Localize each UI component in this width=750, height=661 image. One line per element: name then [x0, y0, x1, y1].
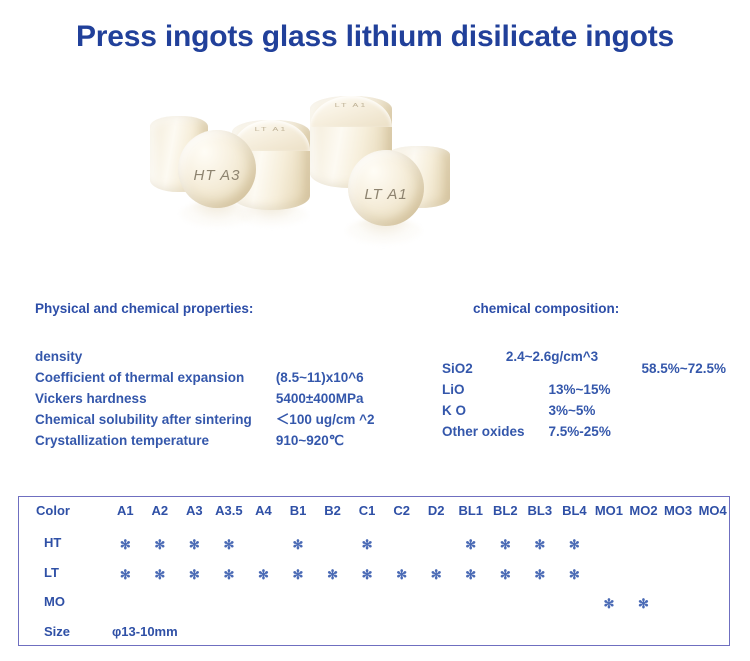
chemical-composition-table: SiO2 58.5%~72.5% LiO 13%~15% K O 3%~5% O… — [442, 361, 726, 445]
shade-empty-cell — [350, 587, 385, 617]
column-header-mo3: MO3 — [661, 496, 696, 528]
asterisk-icon: ✻ — [603, 597, 614, 610]
shade-table-corner-label: Color — [18, 496, 108, 528]
shade-empty-cell — [523, 587, 558, 617]
shade-empty-cell — [695, 557, 730, 587]
table-row: Other oxides 7.5%-25% — [442, 424, 726, 445]
column-header-mo2: MO2 — [626, 496, 661, 528]
shade-mark-mo-mo2: ✻ — [626, 587, 661, 617]
shade-empty-cell — [315, 587, 350, 617]
asterisk-icon: ✻ — [120, 568, 131, 581]
shade-mark-lt-d2: ✻ — [419, 557, 454, 587]
asterisk-icon: ✻ — [189, 538, 200, 551]
compound-value: 13%~15% — [549, 382, 726, 403]
row-label-ht: HT — [18, 528, 108, 558]
shade-mark-lt-a1: ✻ — [108, 557, 143, 587]
shade-empty-cell — [315, 528, 350, 558]
column-header-a1: A1 — [108, 496, 143, 528]
compound-name: K O — [442, 403, 549, 424]
column-header-bl1: BL1 — [453, 496, 488, 528]
asterisk-icon: ✻ — [362, 538, 373, 551]
shade-empty-cell — [661, 528, 696, 558]
asterisk-icon: ✻ — [569, 568, 580, 581]
shade-mark-ht-bl1: ✻ — [453, 528, 488, 558]
asterisk-icon: ✻ — [431, 568, 442, 581]
table-row: SiO2 58.5%~72.5% — [442, 361, 726, 382]
property-name: Vickers hardness — [35, 391, 276, 412]
ingot-engraving-label: LT A1 — [310, 102, 392, 108]
shade-mark-lt-a4: ✻ — [246, 557, 281, 587]
asterisk-icon: ✻ — [189, 568, 200, 581]
row-label-mo: MO — [18, 587, 108, 617]
shade-mark-ht-bl4: ✻ — [557, 528, 592, 558]
column-header-a4: A4 — [246, 496, 281, 528]
shade-mark-lt-bl3: ✻ — [523, 557, 558, 587]
shade-mark-lt-c2: ✻ — [384, 557, 419, 587]
asterisk-icon: ✻ — [293, 568, 304, 581]
shade-mark-lt-bl2: ✻ — [488, 557, 523, 587]
shade-empty-cell — [246, 587, 281, 617]
page-title: Press ingots glass lithium disilicate in… — [0, 20, 750, 54]
size-value: φ13-10mm — [108, 616, 730, 646]
table-row: LT✻✻✻✻✻✻✻✻✻✻✻✻✻✻ — [18, 557, 730, 587]
shade-mark-lt-a3-5: ✻ — [212, 557, 247, 587]
ingot-disc-ht-a3: HT A3 — [178, 130, 256, 208]
asterisk-icon: ✻ — [362, 568, 373, 581]
shade-availability-table: ColorA1A2A3A3.5A4B1B2C1C2D2BL1BL2BL3BL4M… — [18, 496, 730, 646]
column-header-b2: B2 — [315, 496, 350, 528]
asterisk-icon: ✻ — [465, 538, 476, 551]
shade-mark-lt-a3: ✻ — [177, 557, 212, 587]
shade-empty-cell — [661, 557, 696, 587]
shade-empty-cell — [419, 587, 454, 617]
column-header-a3-5: A3.5 — [212, 496, 247, 528]
asterisk-icon: ✻ — [534, 568, 545, 581]
property-name: density — [35, 349, 276, 370]
shade-empty-cell — [695, 528, 730, 558]
asterisk-icon: ✻ — [154, 568, 165, 581]
shade-empty-cell — [246, 528, 281, 558]
shade-mark-ht-a1: ✻ — [108, 528, 143, 558]
shade-empty-cell — [592, 557, 627, 587]
table-row: K O 3%~5% — [442, 403, 726, 424]
shade-empty-cell — [626, 557, 661, 587]
row-label-lt: LT — [18, 557, 108, 587]
shade-mark-mo-mo1: ✻ — [592, 587, 627, 617]
ingot-top-face — [310, 96, 392, 127]
property-name: Chemical solubility after sintering — [35, 412, 276, 433]
column-header-bl4: BL4 — [557, 496, 592, 528]
shade-mark-ht-a3-5: ✻ — [212, 528, 247, 558]
shade-empty-cell — [695, 587, 730, 617]
shade-empty-cell — [453, 587, 488, 617]
ingot-disc-lt-a1: LT A1 — [348, 150, 424, 226]
shade-empty-cell — [212, 587, 247, 617]
shade-mark-ht-a2: ✻ — [143, 528, 178, 558]
column-header-d2: D2 — [419, 496, 454, 528]
asterisk-icon: ✻ — [120, 538, 131, 551]
shade-empty-cell — [177, 587, 212, 617]
asterisk-icon: ✻ — [569, 538, 580, 551]
shade-empty-cell — [626, 528, 661, 558]
table-row: MO✻✻ — [18, 587, 730, 617]
table-header-row: ColorA1A2A3A3.5A4B1B2C1C2D2BL1BL2BL3BL4M… — [18, 496, 730, 528]
row-label-size: Size — [18, 616, 108, 646]
compound-name: SiO2 — [442, 361, 549, 382]
compound-name: LiO — [442, 382, 549, 403]
shade-mark-lt-bl1: ✻ — [453, 557, 488, 587]
asterisk-icon: ✻ — [534, 538, 545, 551]
asterisk-icon: ✻ — [638, 597, 649, 610]
shade-empty-cell — [488, 587, 523, 617]
chemical-composition-heading: chemical composition: — [473, 301, 619, 316]
table-row: LiO 13%~15% — [442, 382, 726, 403]
ingot-disc-label: LT A1 — [348, 186, 424, 203]
compound-value: 58.5%~72.5% — [549, 361, 726, 382]
shade-mark-ht-c1: ✻ — [350, 528, 385, 558]
physical-properties-heading: Physical and chemical properties: — [35, 301, 253, 316]
shade-mark-lt-a2: ✻ — [143, 557, 178, 587]
shade-empty-cell — [592, 528, 627, 558]
asterisk-icon: ✻ — [396, 568, 407, 581]
compound-value: 3%~5% — [549, 403, 726, 424]
product-spec-page: Press ingots glass lithium disilicate in… — [0, 0, 750, 661]
asterisk-icon: ✻ — [154, 538, 165, 551]
asterisk-icon: ✻ — [500, 538, 511, 551]
shade-empty-cell — [108, 587, 143, 617]
shade-mark-lt-b1: ✻ — [281, 557, 316, 587]
column-header-bl2: BL2 — [488, 496, 523, 528]
column-header-c2: C2 — [384, 496, 419, 528]
asterisk-icon: ✻ — [223, 568, 234, 581]
column-header-mo1: MO1 — [592, 496, 627, 528]
asterisk-icon: ✻ — [258, 568, 269, 581]
shade-mark-lt-bl4: ✻ — [557, 557, 592, 587]
shade-empty-cell — [384, 528, 419, 558]
shade-empty-cell — [384, 587, 419, 617]
column-header-a3: A3 — [177, 496, 212, 528]
shade-mark-ht-bl3: ✻ — [523, 528, 558, 558]
shade-mark-ht-bl2: ✻ — [488, 528, 523, 558]
shade-empty-cell — [143, 587, 178, 617]
shade-empty-cell — [661, 587, 696, 617]
shade-empty-cell — [557, 587, 592, 617]
column-header-bl3: BL3 — [523, 496, 558, 528]
asterisk-icon: ✻ — [465, 568, 476, 581]
ingot-disc-label: HT A3 — [178, 167, 256, 184]
column-header-mo4: MO4 — [695, 496, 730, 528]
column-header-a2: A2 — [143, 496, 178, 528]
ingot-engraving-label: LT A1 — [232, 125, 310, 131]
column-header-b1: B1 — [281, 496, 316, 528]
property-name: Crystallization temperature — [35, 433, 276, 454]
compound-value: 7.5%-25% — [549, 424, 726, 445]
product-photo: LT A1 LT A1 HT A3 LT A1 — [140, 88, 480, 263]
property-name: Coefficient of thermal expansion — [35, 370, 276, 391]
asterisk-icon: ✻ — [500, 568, 511, 581]
shade-mark-ht-b1: ✻ — [281, 528, 316, 558]
compound-name: Other oxides — [442, 424, 549, 445]
shade-empty-cell — [419, 528, 454, 558]
table-row-size: Sizeφ13-10mm — [18, 616, 730, 646]
table-row: HT✻✻✻✻✻✻✻✻✻✻ — [18, 528, 730, 558]
shade-mark-lt-c1: ✻ — [350, 557, 385, 587]
shade-mark-ht-a3: ✻ — [177, 528, 212, 558]
shade-empty-cell — [281, 587, 316, 617]
column-header-c1: C1 — [350, 496, 385, 528]
asterisk-icon: ✻ — [327, 568, 338, 581]
asterisk-icon: ✻ — [293, 538, 304, 551]
shade-mark-lt-b2: ✻ — [315, 557, 350, 587]
asterisk-icon: ✻ — [223, 538, 234, 551]
